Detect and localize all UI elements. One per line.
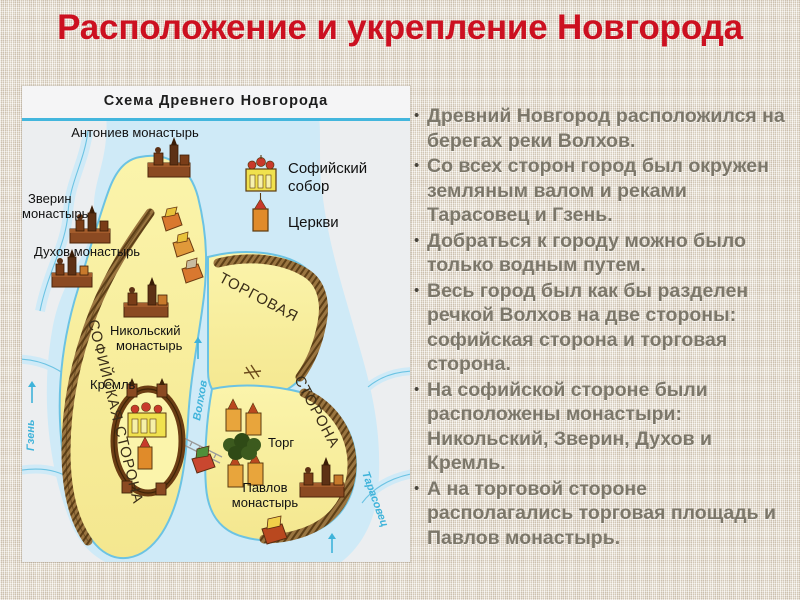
ancient-novgorod-map: Схема Древнего Новгорода	[22, 86, 410, 562]
bullet-marker: •	[414, 229, 427, 254]
list-item: • На софийской стороне были расположены …	[414, 378, 786, 476]
map-label-antoniev: Антониев монастырь	[71, 125, 199, 140]
map-label-pavlov-2: монастырь	[232, 495, 299, 510]
list-item: • А на торговой стороне располагались то…	[414, 477, 786, 551]
map-title: Схема Древнего Новгорода	[22, 86, 410, 109]
list-item: • Весь город был как бы разделен речкой …	[414, 279, 786, 377]
list-item: • Древний Новгород расположился на берег…	[414, 104, 786, 153]
bullet-text: Весь город был как бы разделен речкой Во…	[427, 279, 786, 377]
map-canvas: Антониев монастырь Зверин монастырь Духо…	[22, 121, 410, 562]
map-label-duhov: Духов монастырь	[34, 244, 140, 259]
list-item: • Со всех сторон город был окружен земля…	[414, 154, 786, 228]
bullet-text: Со всех сторон город был окружен земляны…	[427, 154, 786, 228]
bullet-marker: •	[414, 477, 427, 502]
legend-label-cathedral-1: Софийский	[288, 160, 367, 177]
legend-label-cathedral-2: собор	[288, 178, 329, 195]
bullet-marker: •	[414, 378, 427, 403]
legend-label-churches: Церкви	[288, 214, 339, 231]
map-label-zverin-2: монастырь	[22, 206, 89, 221]
bullet-text: А на торговой стороне располагались торг…	[427, 477, 786, 551]
map-label-nikolsky-1: Никольский	[110, 323, 181, 338]
list-item: • Добраться к городу можно было только в…	[414, 229, 786, 278]
bullet-marker: •	[414, 104, 427, 129]
bullet-marker: •	[414, 279, 427, 304]
page-title: Расположение и укрепление Новгорода	[40, 8, 760, 48]
map-label-zverin-1: Зверин	[28, 191, 72, 206]
river-label-gzen: Гзень	[25, 419, 37, 451]
map-title-bar: Схема Древнего Новгорода	[22, 86, 410, 118]
map-label-torg: Торг	[268, 435, 294, 450]
bullet-text: Добраться к городу можно было только вод…	[427, 229, 786, 278]
map-label-nikolsky-2: монастырь	[116, 338, 183, 353]
bullet-marker: •	[414, 154, 427, 179]
map-label-pavlov-1: Павлов	[242, 480, 287, 495]
bullet-text: Древний Новгород расположился на берегах…	[427, 104, 786, 153]
bullet-text: На софийской стороне были расположены мо…	[427, 378, 786, 476]
bullet-list: • Древний Новгород расположился на берег…	[414, 104, 786, 551]
